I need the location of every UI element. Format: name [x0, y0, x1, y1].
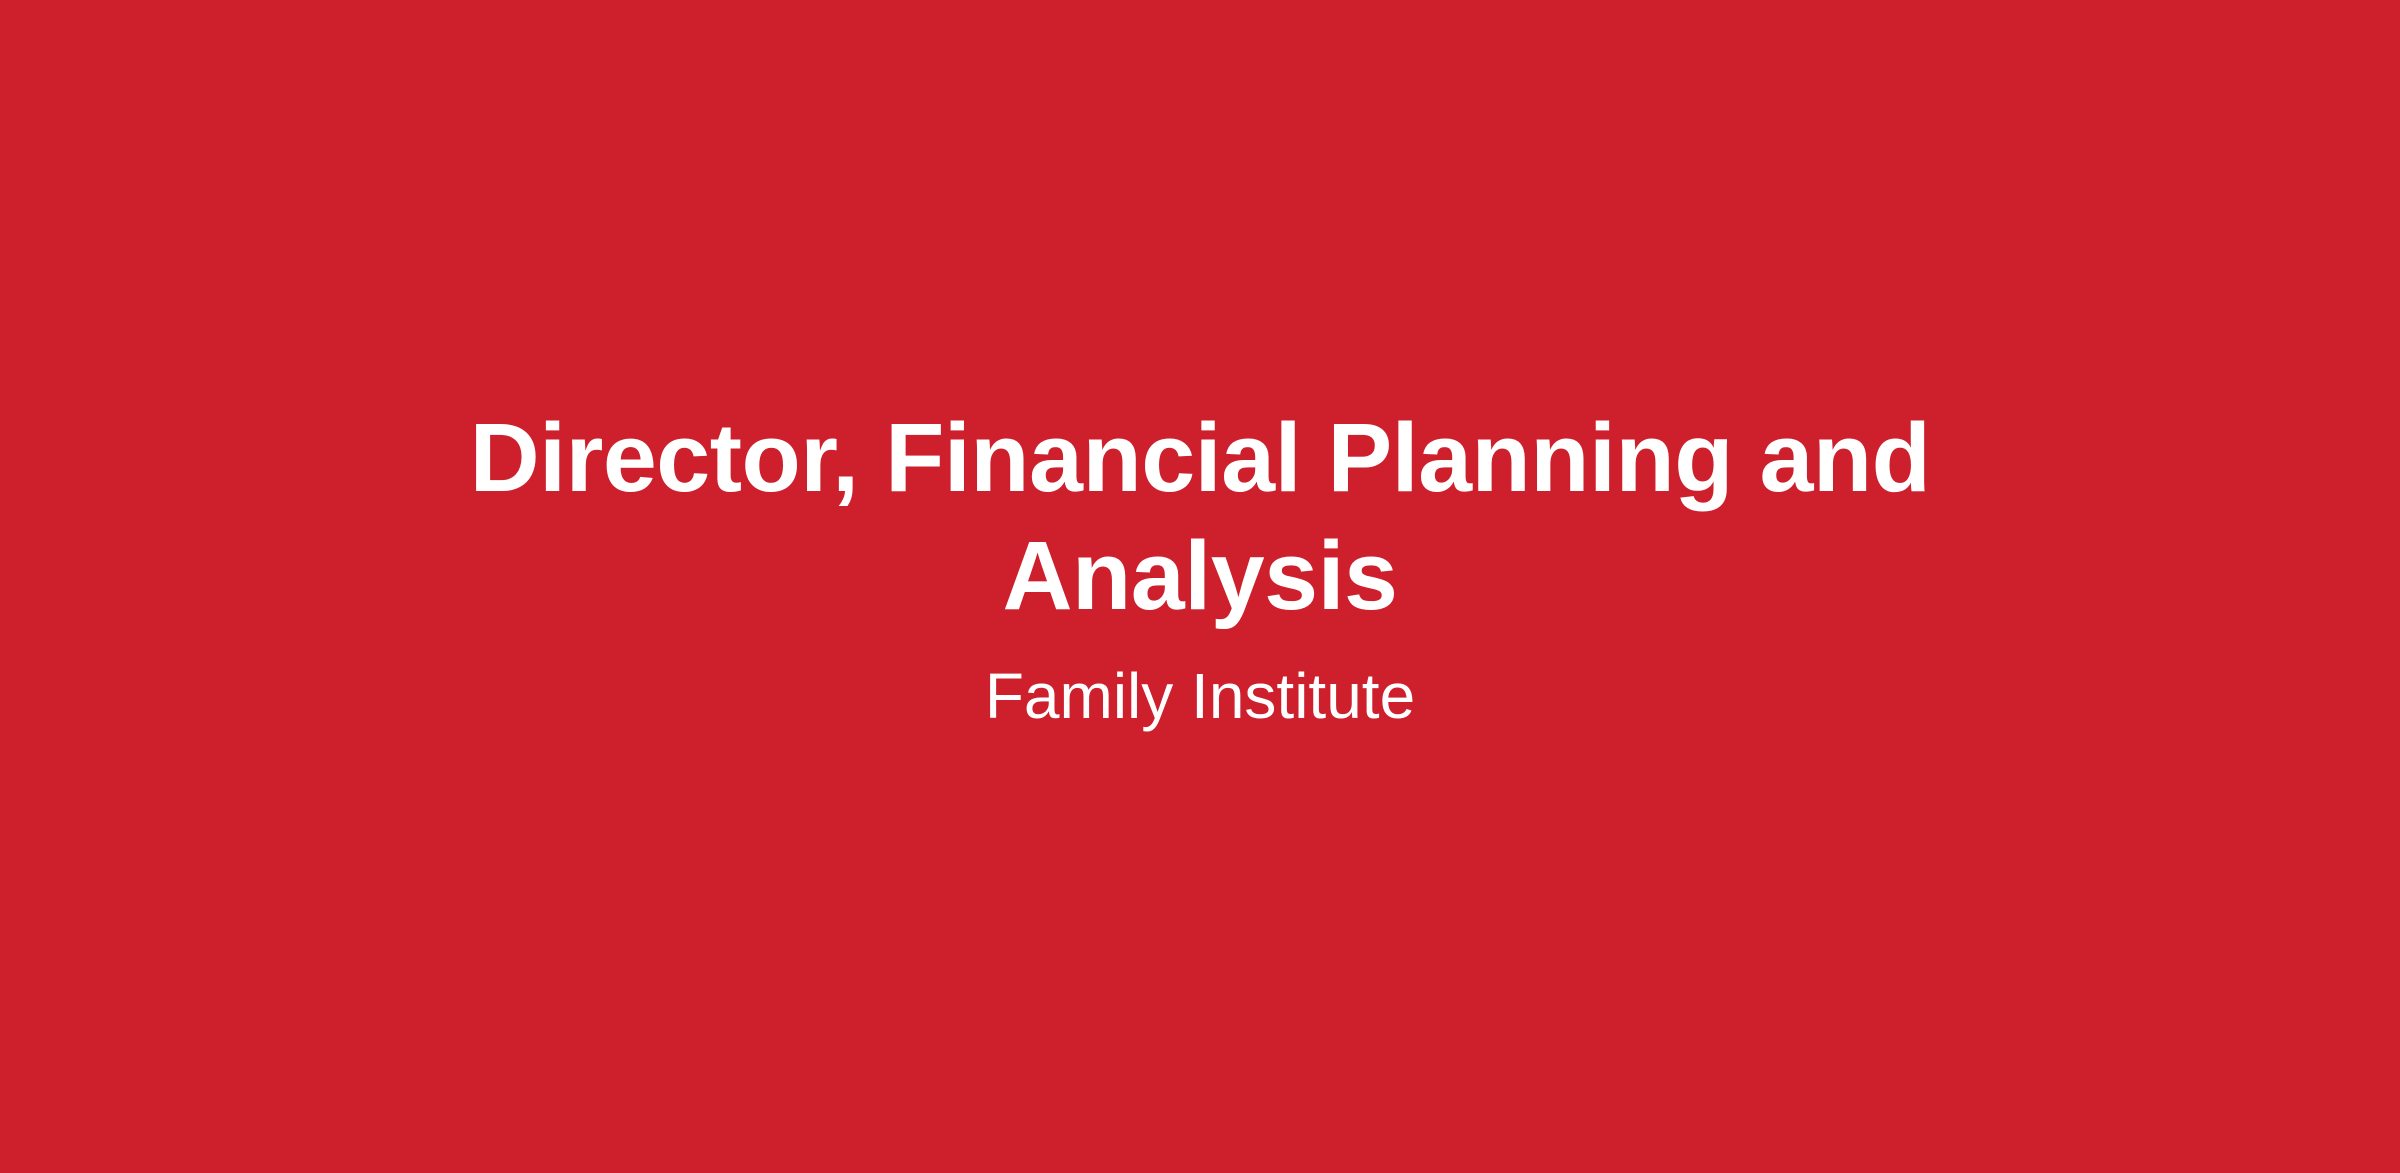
page-title: Director, Financial Planning and Analysi…	[340, 399, 2060, 636]
organization-subtitle: Family Institute	[340, 636, 2060, 735]
title-block: Director, Financial Planning and Analysi…	[340, 399, 2060, 734]
job-title-card: Director, Financial Planning and Analysi…	[0, 0, 2400, 1173]
